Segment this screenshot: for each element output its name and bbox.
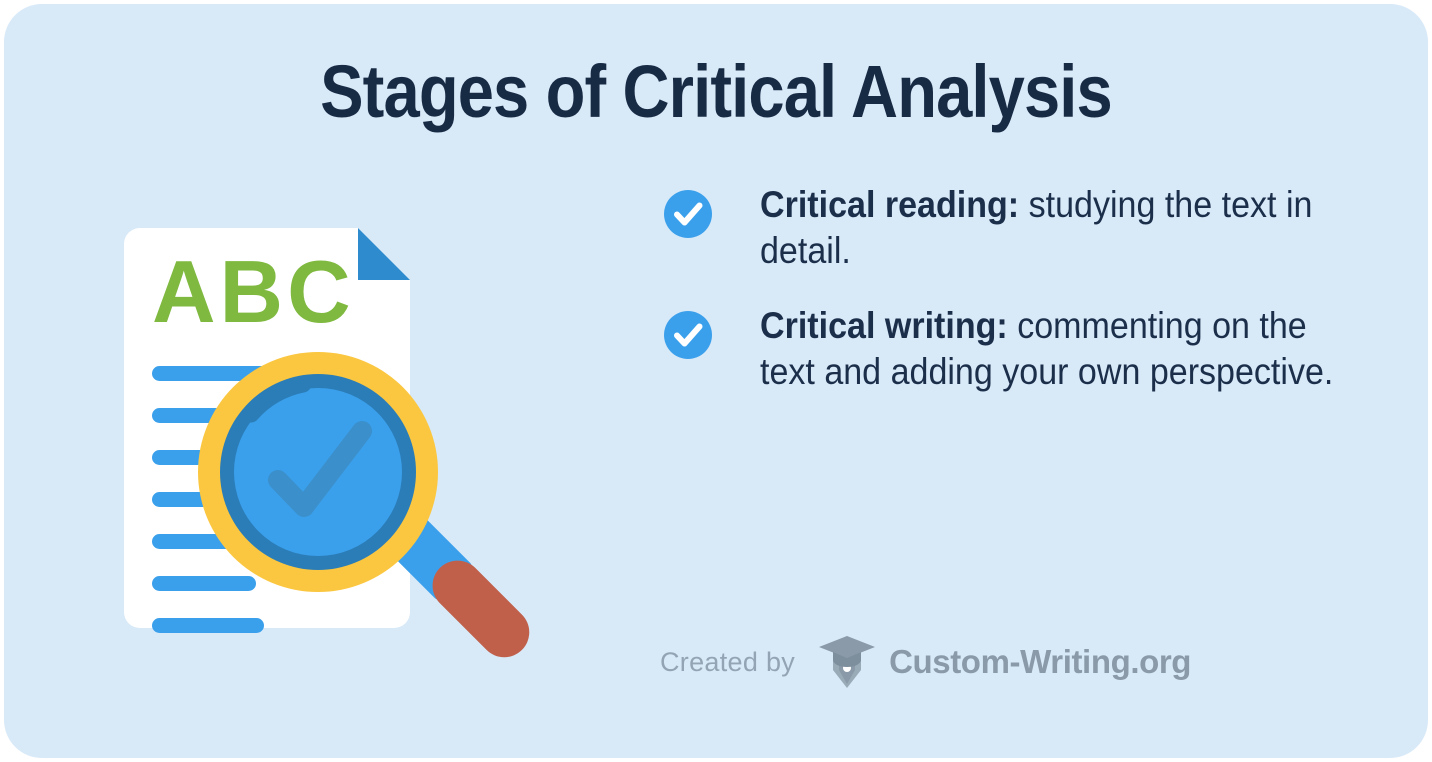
footer-attribution: Created by Custom-Writing.org [660,634,1191,690]
graduation-cap-pen-nib-icon [817,634,877,690]
check-circle-icon [664,190,712,238]
footer-created-by-label: Created by [660,647,795,678]
list-item-lead: Critical writing: [760,305,1008,346]
list-item-text: Critical reading: studying the text in d… [760,182,1367,275]
page-title: Stages of Critical Analysis [86,55,1346,129]
check-circle-icon [664,311,712,359]
document-folded-corner-icon [358,228,410,280]
list-item: Critical reading: studying the text in d… [660,182,1360,275]
list-item-text: Critical writing: commenting on the text… [760,303,1367,396]
list-item-lead: Critical reading: [760,184,1019,225]
illustration-document-with-magnifier: ABC [118,222,558,662]
footer-brand-name: Custom-Writing.org [889,643,1191,681]
bullet-list: Critical reading: studying the text in d… [660,182,1360,423]
list-item: Critical writing: commenting on the text… [660,303,1360,396]
infographic-canvas: Stages of Critical Analysis ABC [0,0,1432,762]
document-abc-text: ABC [152,242,355,341]
